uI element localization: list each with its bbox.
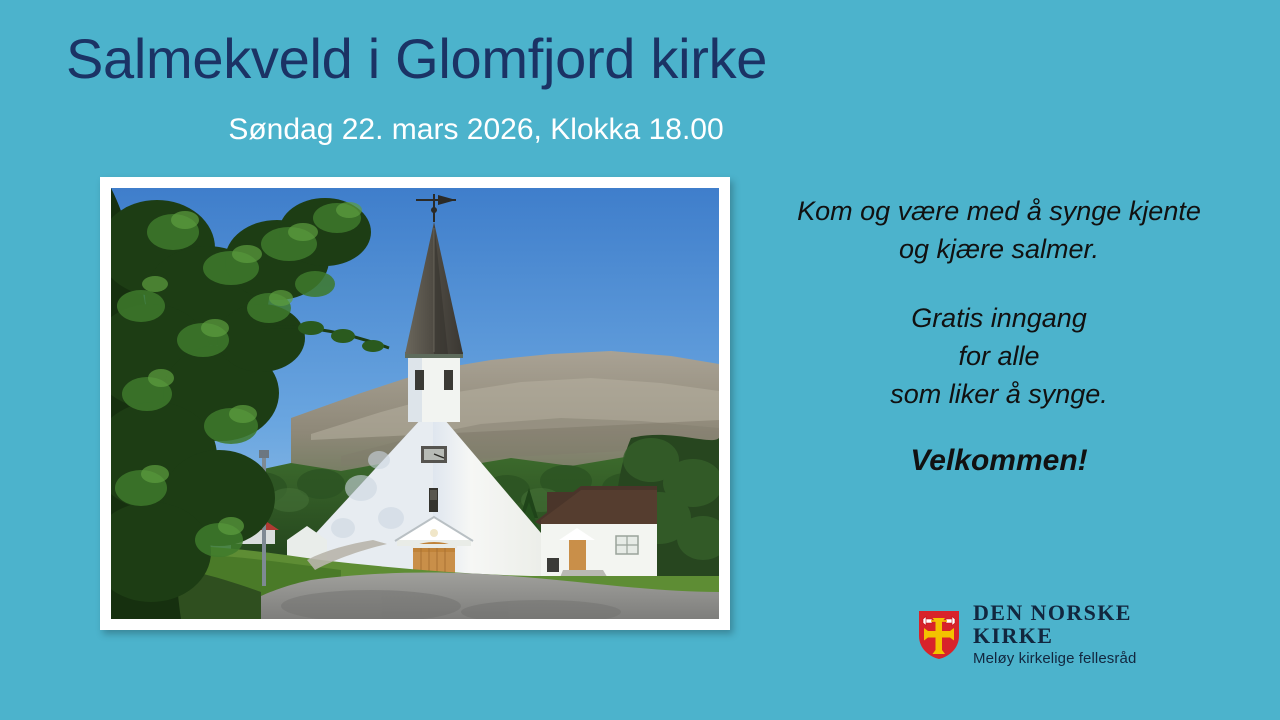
event-datetime: Søndag 22. mars 2026, Klokka 18.00 [66,112,886,148]
photo-frame [100,177,730,630]
church-photo [111,188,719,619]
den-norske-kirke-logo: DEN NORSKE KIRKE Meløy kirkelige fellesr… [918,607,1168,663]
church-shield-icon [918,610,960,660]
logo-title: DEN NORSKE KIRKE [973,601,1168,647]
logo-subtitle: Meløy kirkelige fellesråd [973,650,1168,669]
message-line-4: for alle [752,337,1246,375]
message-spacer-2 [752,414,1246,440]
church-photo-illustration [111,188,719,619]
page-title: Salmekveld i Glomfjord kirke [66,28,1206,91]
message-line-1: Kom og være med å synge kjente [752,192,1246,230]
poster-canvas: Salmekveld i Glomfjord kirke Søndag 22. … [0,0,1280,720]
logo-text-block: DEN NORSKE KIRKE Meløy kirkelige fellesr… [973,601,1168,669]
message-line-5: som liker å synge. [752,375,1246,413]
message-spacer-1 [752,269,1246,299]
welcome-text: Velkommen! [752,440,1246,483]
message-line-3: Gratis inngang [752,299,1246,337]
message-line-2: og kjære salmer. [752,230,1246,268]
event-description: Kom og være med å synge kjente og kjære … [752,192,1246,482]
